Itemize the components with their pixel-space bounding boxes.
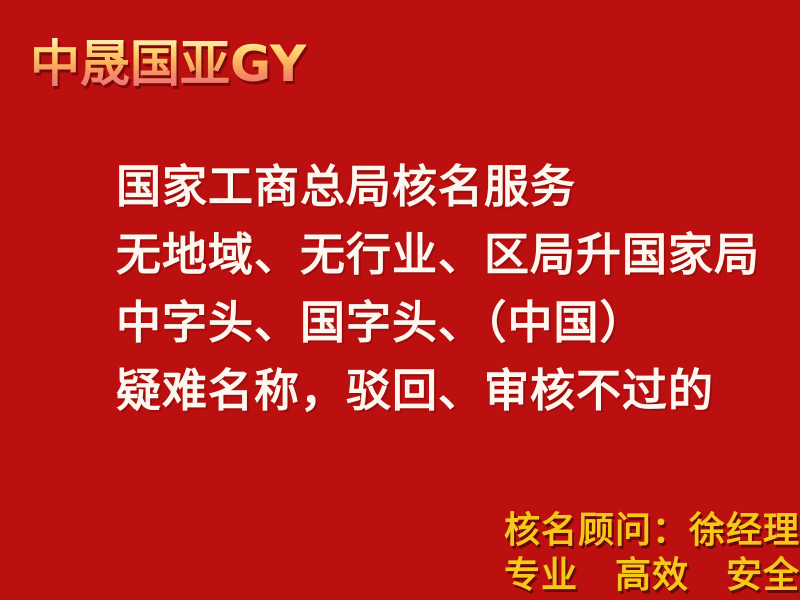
contact-footer: 核名顾问：徐经理 专业 高效 安全: [504, 508, 800, 598]
page-title: 中晟国亚GY: [30, 38, 306, 91]
body-line-2: 无地域、无行业、区局升国家局: [116, 221, 736, 289]
contact-consultant: 核名顾问：徐经理: [504, 508, 800, 553]
contact-slogan: 专业 高效 安全: [504, 553, 800, 598]
body-line-4: 疑难名称，驳回、审核不过的: [116, 357, 736, 425]
body-line-3: 中字头、国字头、（中国）: [116, 289, 736, 357]
body-line-1: 国家工商总局核名服务: [116, 153, 736, 221]
body-text-block: 国家工商总局核名服务 无地域、无行业、区局升国家局 中字头、国字头、（中国） 疑…: [116, 153, 736, 425]
slide-canvas: 中晟国亚GY 国家工商总局核名服务 无地域、无行业、区局升国家局 中字头、国字头…: [0, 0, 800, 600]
